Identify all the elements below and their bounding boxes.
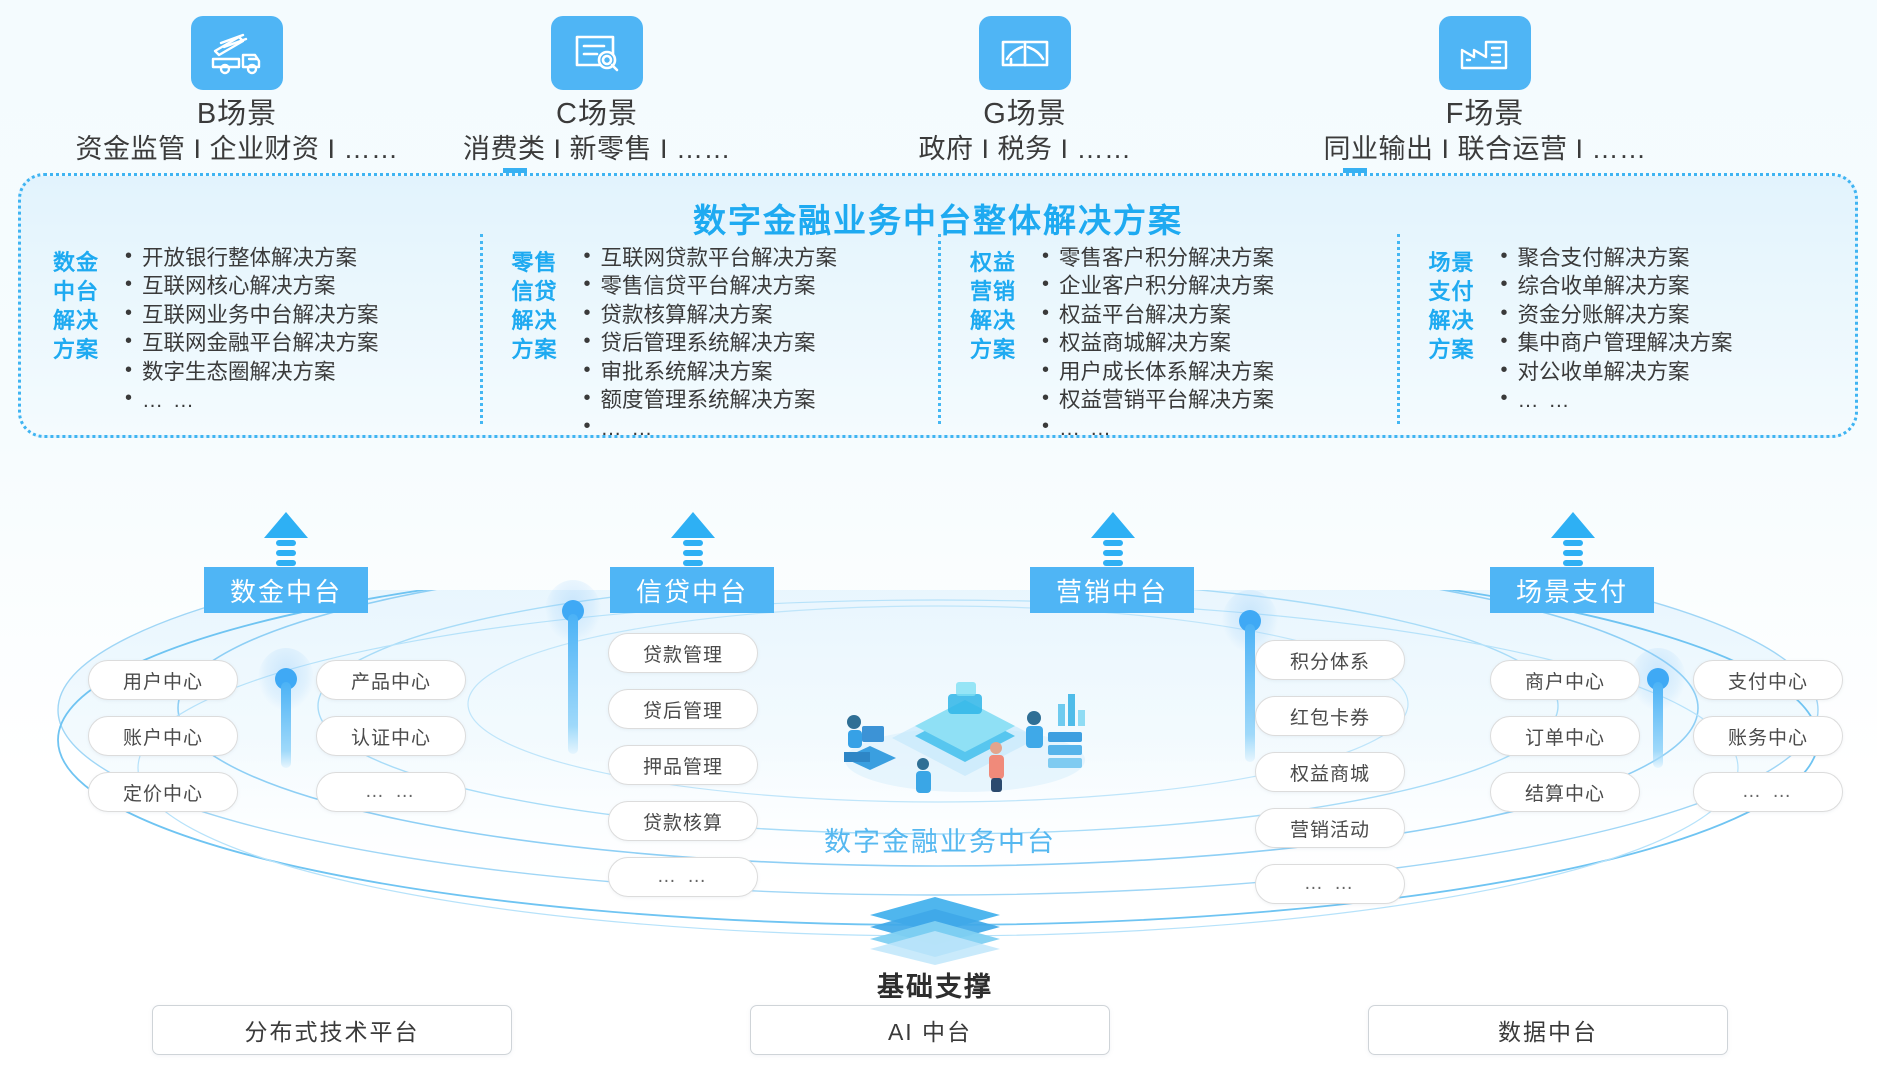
column-ellipsis: … … <box>1040 414 1391 443</box>
layered-stack-icon <box>860 895 1010 965</box>
badge-changjing-zhifu[interactable]: 场景支付 <box>1490 567 1654 613</box>
isometric-illustration-icon <box>810 660 1120 800</box>
column-items: 零售客户积分解决方案 企业客户积分解决方案 权益平台解决方案 权益商城解决方案 … <box>1040 244 1397 443</box>
base-box-ai-platform[interactable]: AI 中台 <box>750 1005 1110 1055</box>
truck-shipping-icon <box>191 16 283 90</box>
pill-capability[interactable]: 贷款管理 <box>608 633 758 673</box>
document-search-icon <box>551 16 643 90</box>
badge-xindai-zhongtai[interactable]: 信贷中台 <box>610 567 774 613</box>
pill-capability[interactable]: 认证中心 <box>316 716 466 756</box>
scene-subtitle: 同业输出 I 联合运营 I …… <box>1275 132 1695 167</box>
column-label: 权益 营销 解决 方案 <box>970 244 1034 364</box>
scene-subtitle: 政府 I 税务 I …… <box>815 132 1235 167</box>
list-item: 用户成长体系解决方案 <box>1040 358 1391 386</box>
pill-capability[interactable]: 账户中心 <box>88 716 238 756</box>
government-bank-icon <box>979 16 1071 90</box>
pill-capability-ellipsis[interactable]: … … <box>1693 772 1843 812</box>
scene-card-b[interactable]: B场景 资金监管 I 企业财资 I …… <box>27 8 447 167</box>
pill-capability[interactable]: 账务中心 <box>1693 716 1843 756</box>
scene-subtitle: 资金监管 I 企业财资 I …… <box>27 132 447 167</box>
pill-capability[interactable]: 营销活动 <box>1255 808 1405 848</box>
list-item: 互联网金融平台解决方案 <box>123 329 474 357</box>
pill-capability[interactable]: 结算中心 <box>1490 772 1640 812</box>
pill-capability[interactable]: 押品管理 <box>608 745 758 785</box>
up-arrow-yingxiao <box>1091 512 1135 574</box>
column-label: 场景 支付 解决 方案 <box>1429 244 1493 364</box>
solution-columns: 数金 中台 解决 方案 开放银行整体解决方案 互联网核心解决方案 互联网业务中台… <box>21 238 1855 433</box>
pill-capability[interactable]: 权益商城 <box>1255 752 1405 792</box>
scene-subtitle: 消费类 I 新零售 I …… <box>387 132 807 167</box>
list-item: 贷款核算解决方案 <box>582 301 933 329</box>
solution-column-quanyi: 权益 营销 解决 方案 零售客户积分解决方案 企业客户积分解决方案 权益平台解决… <box>938 238 1397 433</box>
pill-capability[interactable]: 用户中心 <box>88 660 238 700</box>
list-item: 开放银行整体解决方案 <box>123 244 474 272</box>
list-item: 集中商户管理解决方案 <box>1499 329 1850 357</box>
pill-capability[interactable]: 支付中心 <box>1693 660 1843 700</box>
pill-capability[interactable]: 红包卡券 <box>1255 696 1405 736</box>
list-item: 零售客户积分解决方案 <box>1040 244 1391 272</box>
pin-shujin <box>258 648 314 768</box>
pill-capability-ellipsis[interactable]: … … <box>1255 864 1405 904</box>
column-ellipsis: … … <box>1499 386 1850 415</box>
column-items: 聚合支付解决方案 综合收单解决方案 资金分账解决方案 集中商户管理解决方案 对公… <box>1499 244 1856 415</box>
list-item: 审批系统解决方案 <box>582 358 933 386</box>
scene-title: B场景 <box>27 96 447 132</box>
pin-xindai <box>545 580 601 750</box>
base-box-distributed-platform[interactable]: 分布式技术平台 <box>152 1005 512 1055</box>
scene-card-f[interactable]: F场景 同业输出 I 联合运营 I …… <box>1275 8 1695 167</box>
base-support-title: 基础支撑 <box>800 965 1070 1004</box>
scene-title: G场景 <box>815 96 1235 132</box>
list-item: 互联网业务中台解决方案 <box>123 301 474 329</box>
list-item: 权益营销平台解决方案 <box>1040 386 1391 414</box>
up-arrow-xindai <box>671 512 715 574</box>
pill-capability[interactable]: 定价中心 <box>88 772 238 812</box>
column-ellipsis: … … <box>123 386 474 415</box>
diagram-canvas: B场景 资金监管 I 企业财资 I …… C场景 消费类 I 新零售 I …… <box>0 0 1877 1070</box>
list-item: 贷后管理系统解决方案 <box>582 329 933 357</box>
solution-column-shujin: 数金 中台 解决 方案 开放银行整体解决方案 互联网核心解决方案 互联网业务中台… <box>21 238 480 433</box>
list-item: 零售信贷平台解决方案 <box>582 272 933 300</box>
scene-card-c[interactable]: C场景 消费类 I 新零售 I …… <box>387 8 807 167</box>
pill-capability[interactable]: 贷款核算 <box>608 801 758 841</box>
column-items: 开放银行整体解决方案 互联网核心解决方案 互联网业务中台解决方案 互联网金融平台… <box>123 244 480 415</box>
pill-capability-ellipsis[interactable]: … … <box>316 772 466 812</box>
factory-building-icon <box>1439 16 1531 90</box>
list-item: 聚合支付解决方案 <box>1499 244 1850 272</box>
column-label: 零售 信贷 解决 方案 <box>512 244 576 364</box>
scene-card-g[interactable]: G场景 政府 I 税务 I …… <box>815 8 1235 167</box>
pill-capability[interactable]: 产品中心 <box>316 660 466 700</box>
list-item: 对公收单解决方案 <box>1499 358 1850 386</box>
column-items: 互联网贷款平台解决方案 零售信贷平台解决方案 贷款核算解决方案 贷后管理系统解决… <box>582 244 939 443</box>
solution-panel: 数字金融业务中台整体解决方案 数金 中台 解决 方案 开放银行整体解决方案 互联… <box>18 173 1858 438</box>
badge-yingxiao-zhongtai[interactable]: 营销中台 <box>1030 567 1194 613</box>
up-arrow-zhifu <box>1551 512 1595 574</box>
list-item: 互联网核心解决方案 <box>123 272 474 300</box>
up-arrow-shujin <box>264 512 308 574</box>
list-item: 企业客户积分解决方案 <box>1040 272 1391 300</box>
list-item: 互联网贷款平台解决方案 <box>582 244 933 272</box>
list-item: 权益商城解决方案 <box>1040 329 1391 357</box>
badge-shujin-zhongtai[interactable]: 数金中台 <box>204 567 368 613</box>
scene-row: B场景 资金监管 I 企业财资 I …… C场景 消费类 I 新零售 I …… <box>0 8 1877 158</box>
scene-title: F场景 <box>1275 96 1695 132</box>
column-label: 数金 中台 解决 方案 <box>53 244 117 364</box>
pill-capability[interactable]: 贷后管理 <box>608 689 758 729</box>
solution-column-lingshou: 零售 信贷 解决 方案 互联网贷款平台解决方案 零售信贷平台解决方案 贷款核算解… <box>480 238 939 433</box>
list-item: 数字生态圈解决方案 <box>123 358 474 386</box>
pill-capability-ellipsis[interactable]: … … <box>608 857 758 897</box>
pill-capability[interactable]: 商户中心 <box>1490 660 1640 700</box>
base-box-data-platform[interactable]: 数据中台 <box>1368 1005 1728 1055</box>
list-item: 资金分账解决方案 <box>1499 301 1850 329</box>
scene-title: C场景 <box>387 96 807 132</box>
list-item: 综合收单解决方案 <box>1499 272 1850 300</box>
center-platform-label: 数字金融业务中台 <box>770 820 1110 859</box>
list-item: 额度管理系统解决方案 <box>582 386 933 414</box>
pill-capability[interactable]: 积分体系 <box>1255 640 1405 680</box>
column-ellipsis: … … <box>582 414 933 443</box>
pin-zhifu <box>1630 648 1686 768</box>
pill-capability[interactable]: 订单中心 <box>1490 716 1640 756</box>
list-item: 权益平台解决方案 <box>1040 301 1391 329</box>
solution-column-changjing: 场景 支付 解决 方案 聚合支付解决方案 综合收单解决方案 资金分账解决方案 集… <box>1397 238 1856 433</box>
